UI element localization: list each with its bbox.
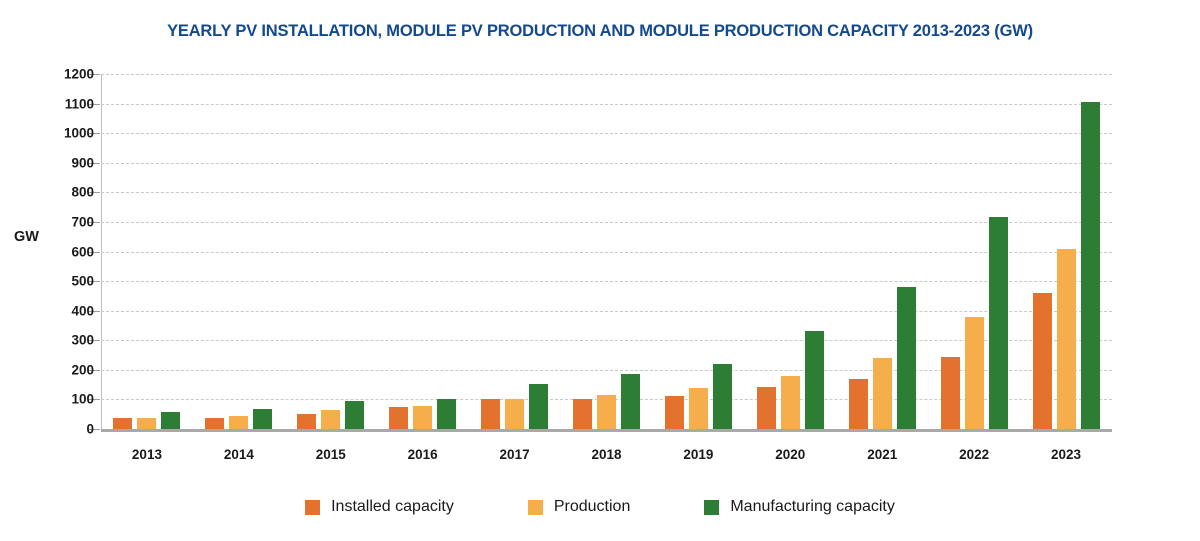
bar-production-2015[interactable]: [321, 410, 340, 429]
y-axis-unit-label: GW: [14, 229, 39, 245]
legend-item-installed-capacity[interactable]: Installed capacity: [305, 498, 454, 516]
y-axis-tick-label: 800: [24, 185, 94, 200]
bar-manufacturing-2016[interactable]: [437, 399, 456, 429]
axis-baseline: [101, 429, 1112, 432]
y-axis-tick-label: 1100: [24, 96, 94, 111]
legend-label: Manufacturing capacity: [730, 498, 895, 516]
bar-installed-2022[interactable]: [941, 357, 960, 429]
chart-legend: Installed capacityProductionManufacturin…: [0, 498, 1200, 516]
x-axis-tick-label-2023: 2023: [1006, 447, 1126, 462]
bar-installed-2017[interactable]: [481, 399, 500, 429]
bar-manufacturing-2018[interactable]: [621, 374, 640, 429]
bar-production-2023[interactable]: [1057, 249, 1076, 429]
bar-installed-2018[interactable]: [573, 399, 592, 429]
y-axis-tick-label: 1200: [24, 67, 94, 82]
bar-production-2019[interactable]: [689, 388, 708, 429]
bar-group-2013: [101, 74, 193, 429]
bar-group-2018: [561, 74, 653, 429]
bar-groups: [101, 74, 1112, 429]
bar-manufacturing-2020[interactable]: [805, 331, 824, 429]
bar-manufacturing-2022[interactable]: [989, 217, 1008, 429]
y-axis-tick-label: 600: [24, 244, 94, 259]
bar-production-2013[interactable]: [137, 418, 156, 429]
legend-label: Installed capacity: [331, 498, 454, 516]
bar-manufacturing-2014[interactable]: [253, 409, 272, 429]
chart-container: YEARLY PV INSTALLATION, MODULE PV PRODUC…: [0, 0, 1200, 541]
bar-production-2014[interactable]: [229, 416, 248, 429]
y-axis-tick-label: 900: [24, 155, 94, 170]
bar-installed-2021[interactable]: [849, 379, 868, 429]
chart-title: YEARLY PV INSTALLATION, MODULE PV PRODUC…: [0, 22, 1200, 41]
y-axis-tick-label: 300: [24, 333, 94, 348]
y-axis-tick-label: 700: [24, 214, 94, 229]
y-axis-tick-label: 0: [24, 422, 94, 437]
bar-installed-2023[interactable]: [1033, 293, 1052, 429]
legend-item-production[interactable]: Production: [528, 498, 631, 516]
bar-production-2017[interactable]: [505, 399, 524, 429]
bar-group-2021: [836, 74, 928, 429]
y-axis-tick-label: 100: [24, 392, 94, 407]
left-edge-marker: [0, 63, 4, 79]
bar-installed-2020[interactable]: [757, 387, 776, 429]
bar-installed-2013[interactable]: [113, 418, 132, 429]
bar-manufacturing-2013[interactable]: [161, 412, 180, 429]
bar-group-2017: [469, 74, 561, 429]
bar-group-2019: [652, 74, 744, 429]
legend-label: Production: [554, 498, 631, 516]
bar-installed-2016[interactable]: [389, 407, 408, 429]
bar-group-2015: [285, 74, 377, 429]
bar-production-2016[interactable]: [413, 406, 432, 429]
bar-installed-2014[interactable]: [205, 418, 224, 429]
bar-manufacturing-2019[interactable]: [713, 364, 732, 429]
bar-manufacturing-2023[interactable]: [1081, 102, 1100, 429]
bar-group-2022: [928, 74, 1020, 429]
bar-production-2022[interactable]: [965, 317, 984, 429]
bar-installed-2015[interactable]: [297, 414, 316, 429]
y-axis-tick-label: 500: [24, 274, 94, 289]
legend-swatch-icon: [704, 500, 719, 515]
bar-group-2016: [377, 74, 469, 429]
legend-item-manufacturing-capacity[interactable]: Manufacturing capacity: [704, 498, 895, 516]
bar-group-2020: [744, 74, 836, 429]
bar-production-2018[interactable]: [597, 395, 616, 429]
bar-group-2023: [1020, 74, 1112, 429]
y-axis-tick-label: 400: [24, 303, 94, 318]
bar-production-2021[interactable]: [873, 358, 892, 429]
legend-swatch-icon: [528, 500, 543, 515]
bar-group-2014: [193, 74, 285, 429]
bar-installed-2019[interactable]: [665, 396, 684, 429]
y-axis-tick-label: 1000: [24, 126, 94, 141]
legend-swatch-icon: [305, 500, 320, 515]
bar-manufacturing-2017[interactable]: [529, 384, 548, 429]
bar-manufacturing-2021[interactable]: [897, 287, 916, 429]
bar-manufacturing-2015[interactable]: [345, 401, 364, 429]
y-axis-tick-label: 200: [24, 362, 94, 377]
bar-production-2020[interactable]: [781, 376, 800, 429]
